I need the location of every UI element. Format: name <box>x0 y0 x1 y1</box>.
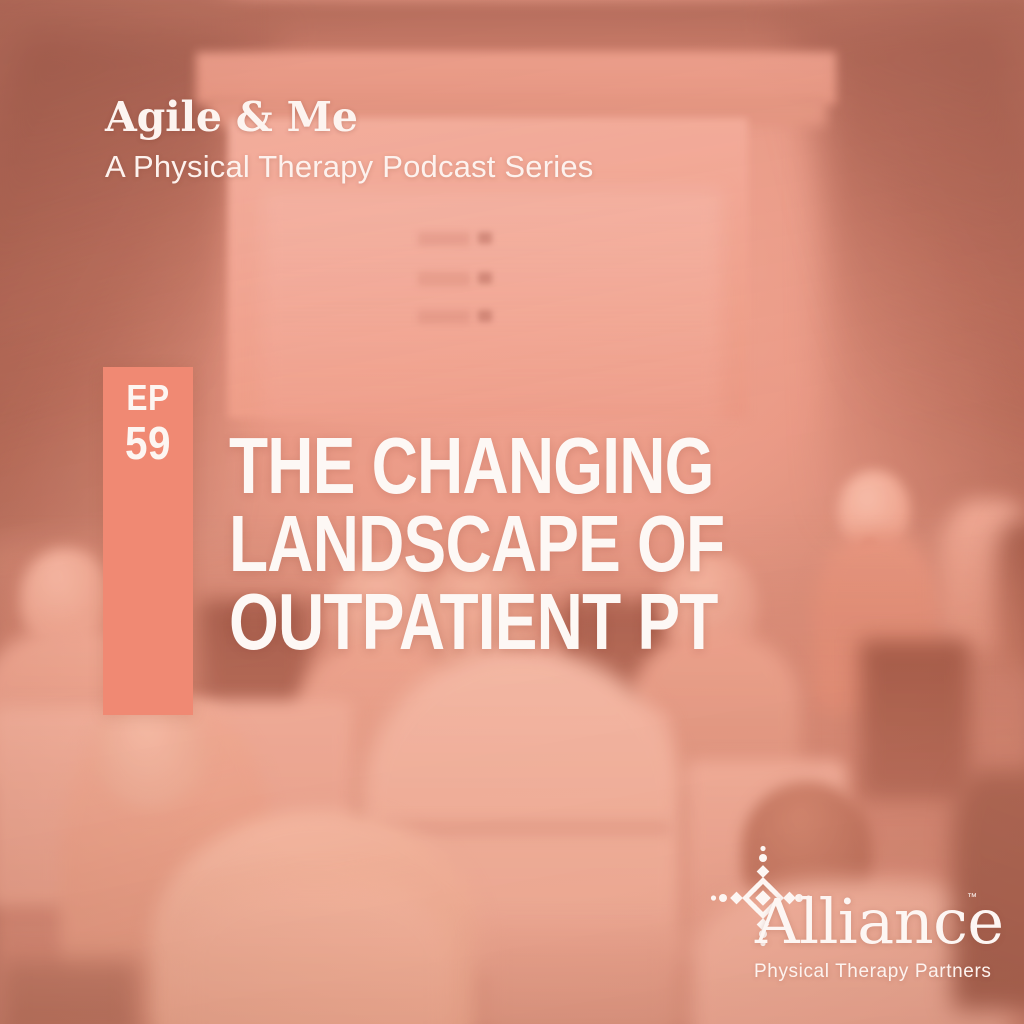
episode-title-line-2: LANDSCAPE OF <box>229 505 741 583</box>
episode-badge-label: EP <box>108 379 187 417</box>
alliance-tagline: Physical Therapy Partners <box>754 961 991 983</box>
show-branding: Agile & Me A Physical Therapy Podcast Se… <box>105 96 594 185</box>
episode-title-line-1: THE CHANGING <box>229 427 741 505</box>
show-subtitle: A Physical Therapy Podcast Series <box>105 148 594 185</box>
episode-badge-number: 59 <box>108 419 187 467</box>
episode-cover-artwork: Agile & Me A Physical Therapy Podcast Se… <box>0 0 1024 1024</box>
episode-badge-content: EP 59 <box>103 367 193 467</box>
episode-title: THE CHANGING LANDSCAPE OF OUTPATIENT PT <box>229 427 869 661</box>
episode-title-line-3: OUTPATIENT PT <box>229 583 741 661</box>
show-title: Agile & Me <box>105 96 594 139</box>
episode-number-badge: EP 59 <box>103 367 193 715</box>
alliance-logo: Alliance ™ Physical Therapy Partners <box>700 843 980 988</box>
alliance-trademark: ™ <box>967 892 977 903</box>
